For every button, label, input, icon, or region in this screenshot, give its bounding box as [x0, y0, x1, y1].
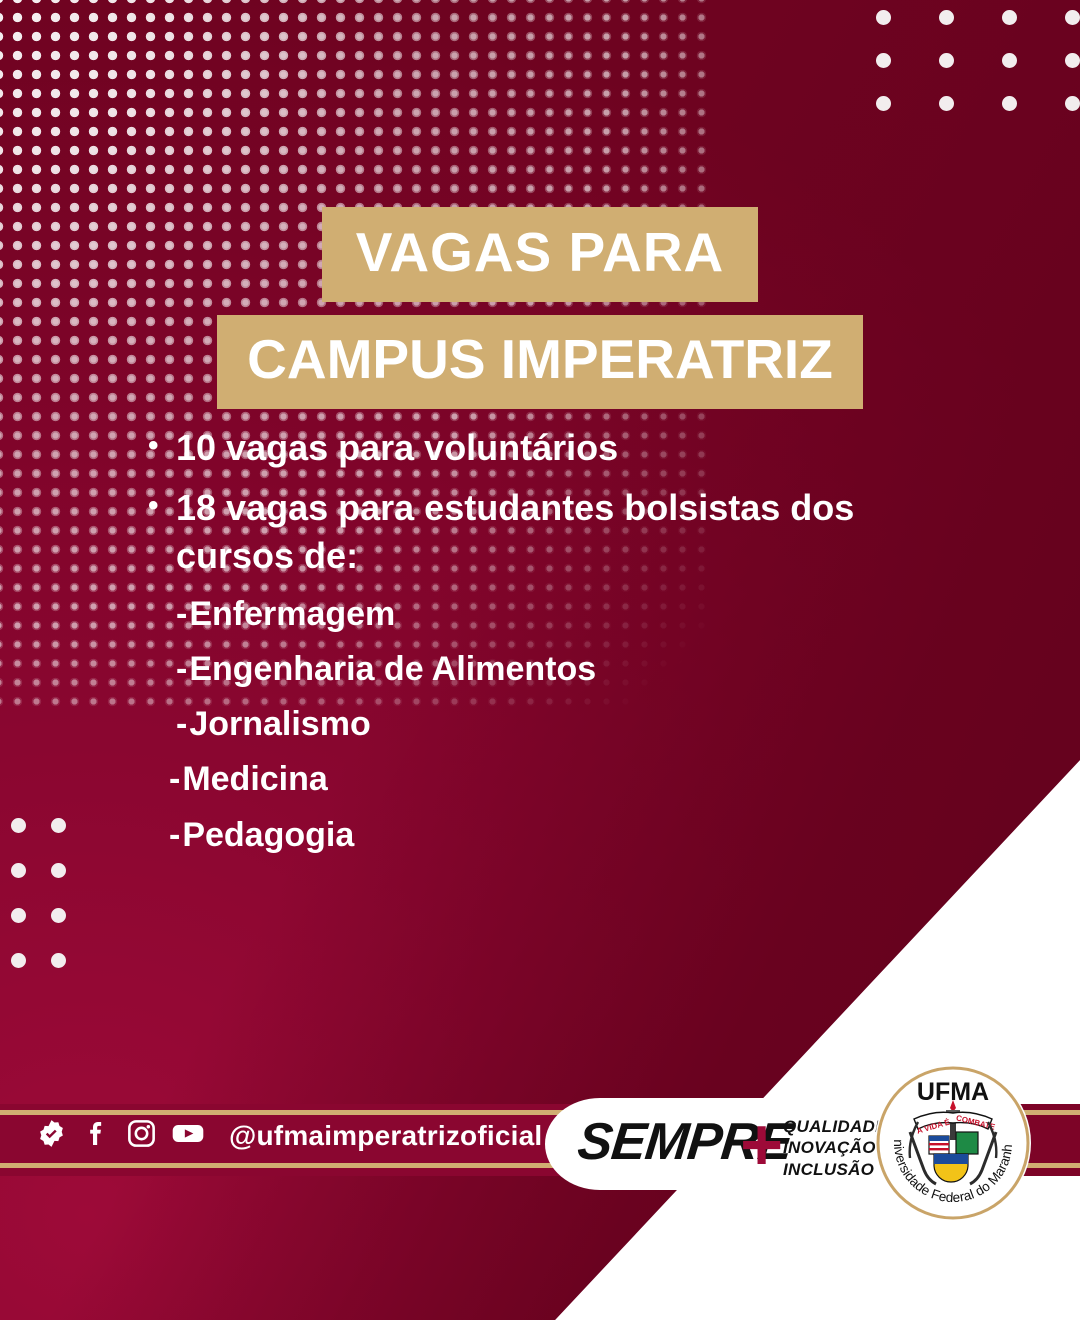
social-handle[interactable]: @ufmaimperatrizoficial: [229, 1120, 542, 1152]
social-bar: @ufmaimperatrizoficial: [36, 1118, 542, 1154]
youtube-icon[interactable]: [171, 1118, 205, 1154]
list-item-label: 18 vagas para estudantes bolsistas dos c…: [176, 484, 936, 580]
list-item: • 18 vagas para estudantes bolsistas dos…: [0, 484, 1000, 580]
list-item: • 10 vagas para voluntários: [0, 424, 1000, 472]
list-item-label: 10 vagas para voluntários: [176, 424, 936, 472]
dash-marker: -: [176, 647, 187, 692]
ufma-seal-logo: UFMA A VIDA É COMBATE: [872, 1062, 1034, 1224]
course-item-label: Jornalismo: [189, 702, 370, 747]
title-line-1: VAGAS PARA: [322, 207, 759, 302]
title-line-2: CAMPUS IMPERATRIZ: [217, 315, 863, 409]
bullet-marker: •: [148, 484, 176, 528]
campaign-plus-icon: +: [740, 1108, 783, 1182]
facebook-icon[interactable]: [81, 1118, 112, 1154]
verified-badge-icon[interactable]: [36, 1118, 67, 1154]
course-item-label: Pedagogia: [182, 813, 354, 858]
course-item-engenharia-de-alimentos: - Engenharia de Alimentos: [0, 647, 1000, 692]
poster-canvas: VAGAS PARA CAMPUS IMPERATRIZ • 10 vagas …: [0, 0, 1080, 1320]
course-item-label: Medicina: [182, 757, 327, 802]
course-item-label: Engenharia de Alimentos: [189, 647, 596, 692]
dash-marker: -: [169, 813, 180, 858]
dash-marker: -: [169, 757, 180, 802]
vacancy-list: • 10 vagas para voluntários • 18 vagas p…: [0, 424, 1000, 868]
course-item-label: Enfermagem: [189, 592, 395, 637]
course-item-jornalismo: - Jornalismo: [0, 702, 1000, 747]
dash-marker: -: [176, 702, 187, 747]
bullet-marker: •: [148, 424, 176, 468]
course-item-medicina: - Medicina: [0, 757, 1000, 802]
course-item-enfermagem: - Enfermagem: [0, 592, 1000, 637]
instagram-icon[interactable]: [126, 1118, 157, 1154]
page-title: VAGAS PARA CAMPUS IMPERATRIZ: [0, 207, 1080, 409]
course-item-pedagogia: - Pedagogia: [0, 813, 1000, 858]
campaign-tagline-line3: INCLUSÃO: [783, 1160, 874, 1179]
dash-marker: -: [176, 592, 187, 637]
campaign-logo: SEMPRE + QUALIDADE INOVAÇÃO INCLUSÃO: [578, 1098, 868, 1184]
campaign-tagline-line2: INOVAÇÃO: [783, 1138, 876, 1157]
